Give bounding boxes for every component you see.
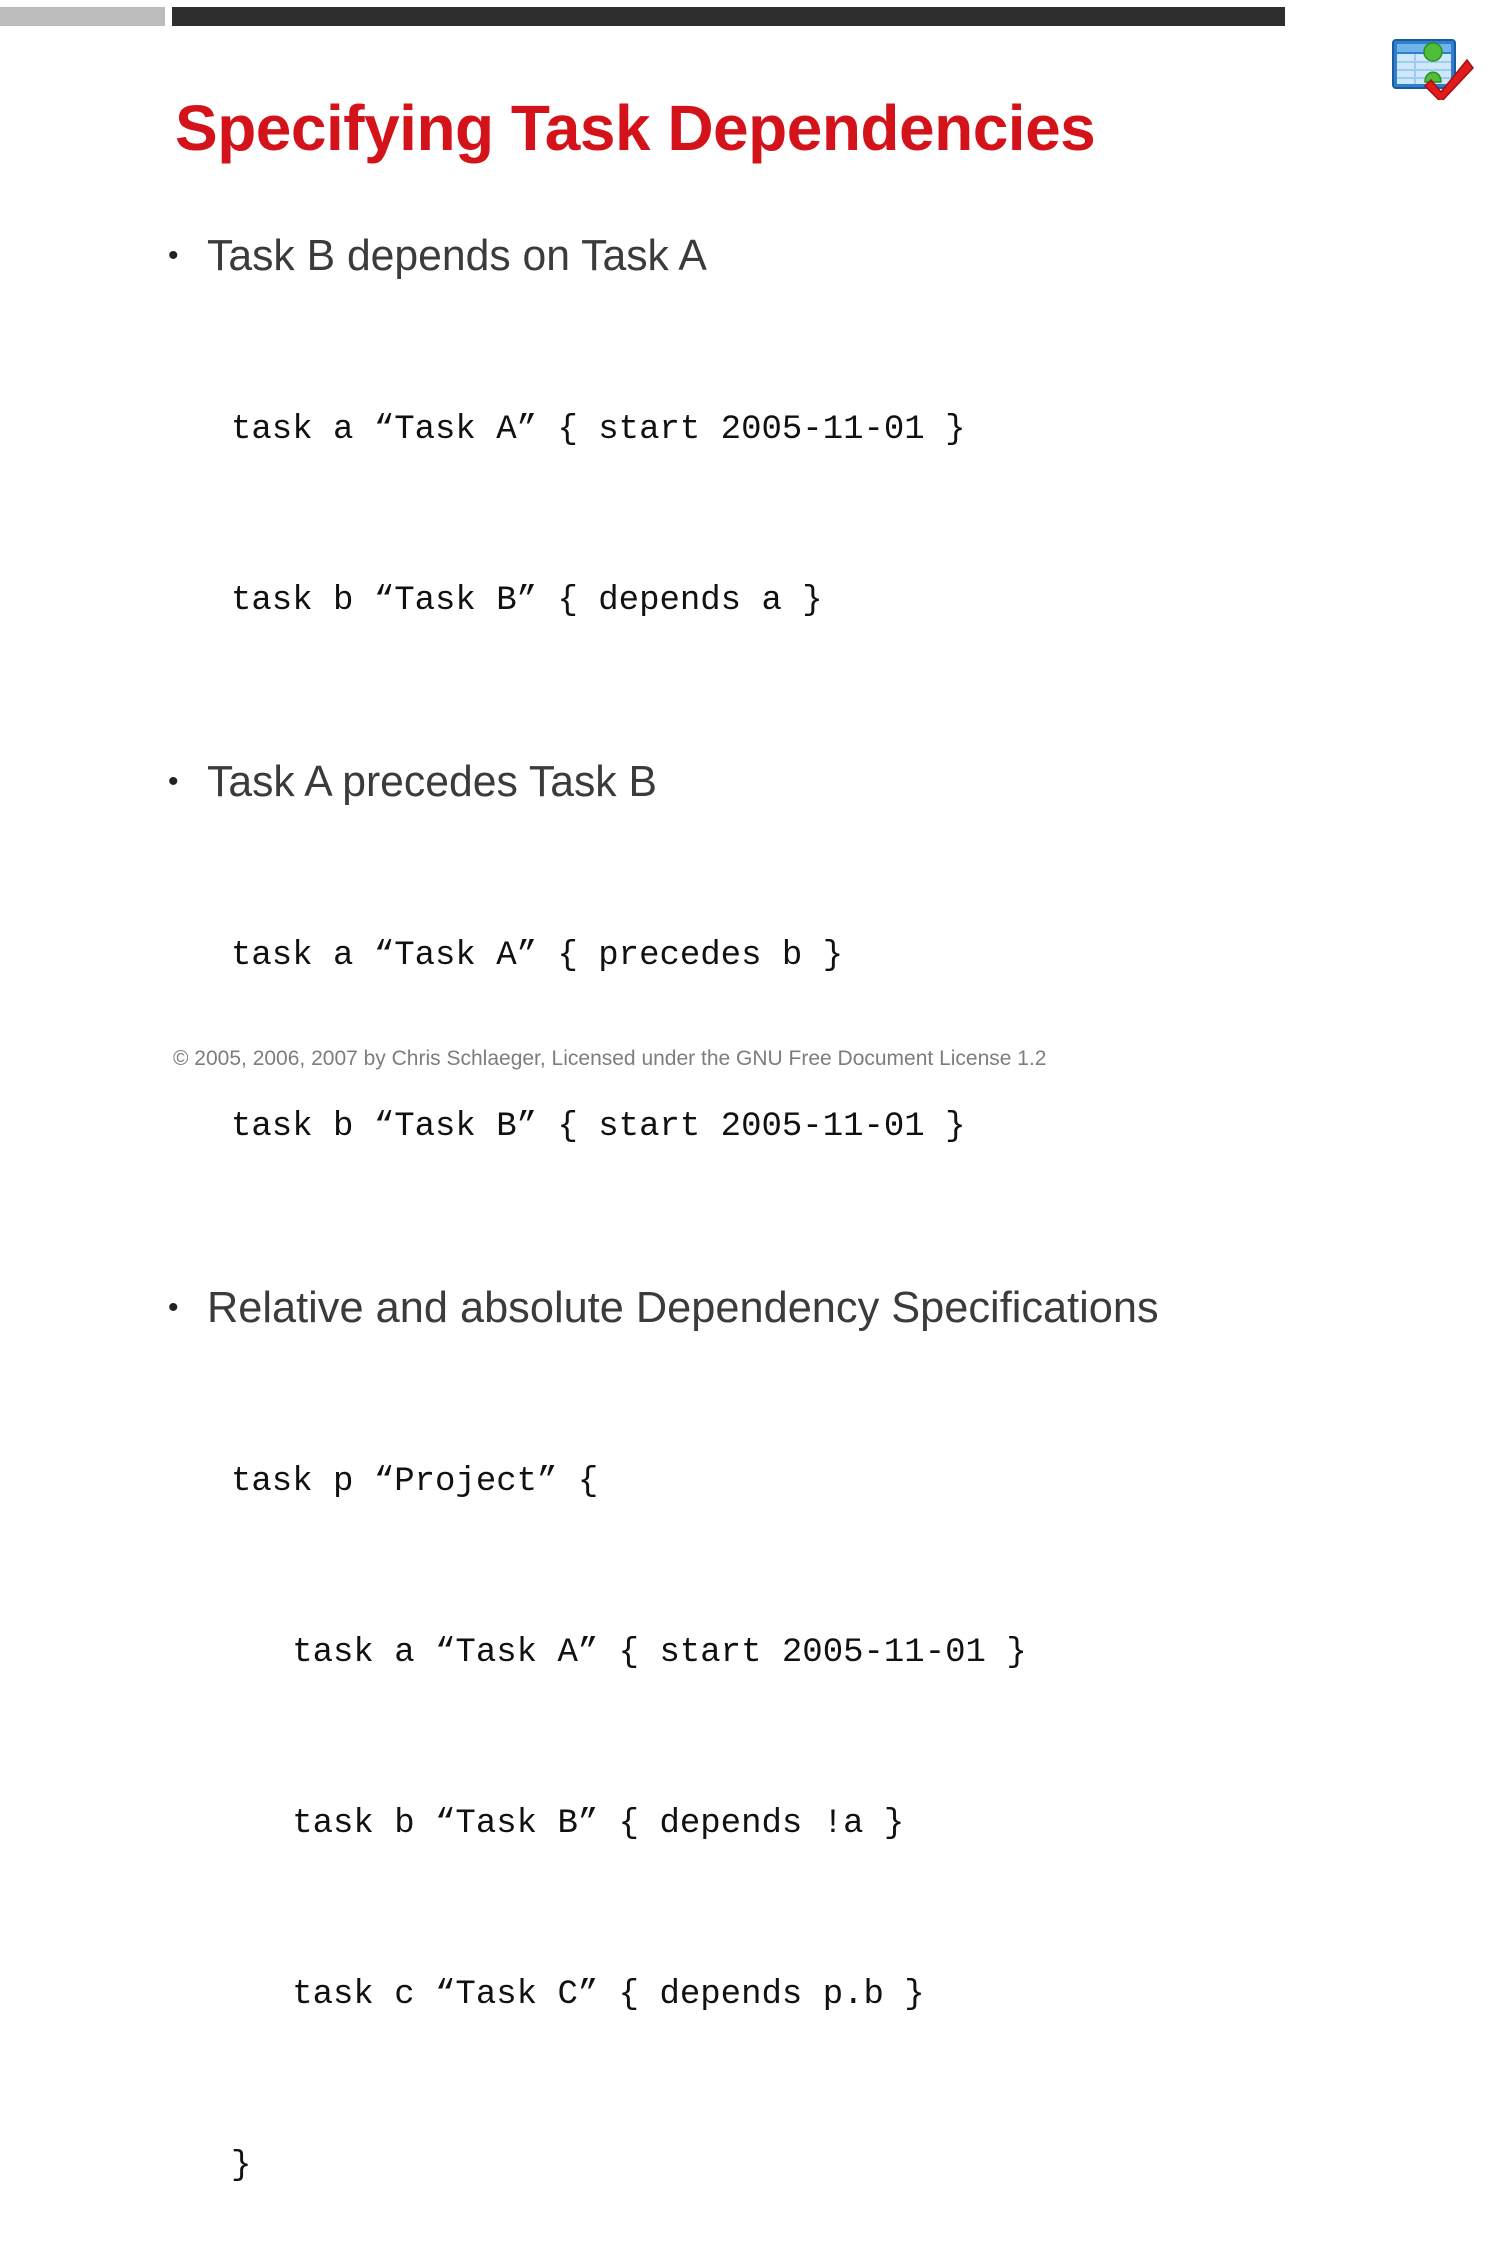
top-decorative-bars: [0, 0, 1500, 30]
page-title: Specifying Task Dependencies: [175, 92, 1275, 164]
code-line: task a “Task A” { precedes b }: [231, 928, 1500, 985]
code-line: task b “Task B” { depends !a }: [231, 1796, 1500, 1853]
bullet-item-1: • Task B depends on Task A: [0, 228, 1500, 284]
bullet-point-icon: •: [168, 754, 182, 810]
code-line: }: [231, 2138, 1500, 2195]
spacer: [0, 744, 1500, 754]
taskjuggler-window-check-icon: [1391, 36, 1475, 100]
code-block-3: task p “Project” { task a “Task A” { sta…: [0, 1340, 1500, 2250]
code-block-1: task a “Task A” { start 2005-11-01 } tas…: [0, 288, 1500, 744]
code-line: task a “Task A” { start 2005-11-01 }: [231, 1625, 1500, 1682]
bullet-block-3: • Relative and absolute Dependency Speci…: [0, 1280, 1500, 2250]
slide-content: • Task B depends on Task A task a “Task …: [0, 228, 1500, 2250]
bullet-block-2: • Task A precedes Task B task a “Task A”…: [0, 754, 1500, 1270]
bullet-block-1: • Task B depends on Task A task a “Task …: [0, 228, 1500, 744]
code-line: task b “Task B” { start 2005-11-01 }: [231, 1099, 1500, 1156]
code-line: task c “Task C” { depends p.b }: [231, 1967, 1500, 2024]
footer-copyright-text: © 2005, 2006, 2007 by Chris Schlaeger, L…: [173, 1046, 1047, 1072]
top-bar-dark: [172, 7, 1285, 26]
bullet-item-3: • Relative and absolute Dependency Speci…: [0, 1280, 1500, 1336]
spacer: [0, 1270, 1500, 1280]
top-bar-gray: [0, 7, 165, 26]
bullet-item-2: • Task A precedes Task B: [0, 754, 1500, 810]
bullet-item-3-label: Relative and absolute Dependency Specifi…: [207, 1280, 1159, 1336]
code-block-2: task a “Task A” { precedes b } task b “T…: [0, 814, 1500, 1270]
bullet-point-icon: •: [168, 1280, 182, 1336]
bullet-item-2-label: Task A precedes Task B: [207, 754, 657, 810]
code-line: task p “Project” {: [231, 1454, 1500, 1511]
bullet-point-icon: •: [168, 228, 182, 284]
code-line: task a “Task A” { start 2005-11-01 }: [231, 402, 1500, 459]
code-line: task b “Task B” { depends a }: [231, 573, 1500, 630]
bullet-item-1-label: Task B depends on Task A: [207, 228, 707, 284]
